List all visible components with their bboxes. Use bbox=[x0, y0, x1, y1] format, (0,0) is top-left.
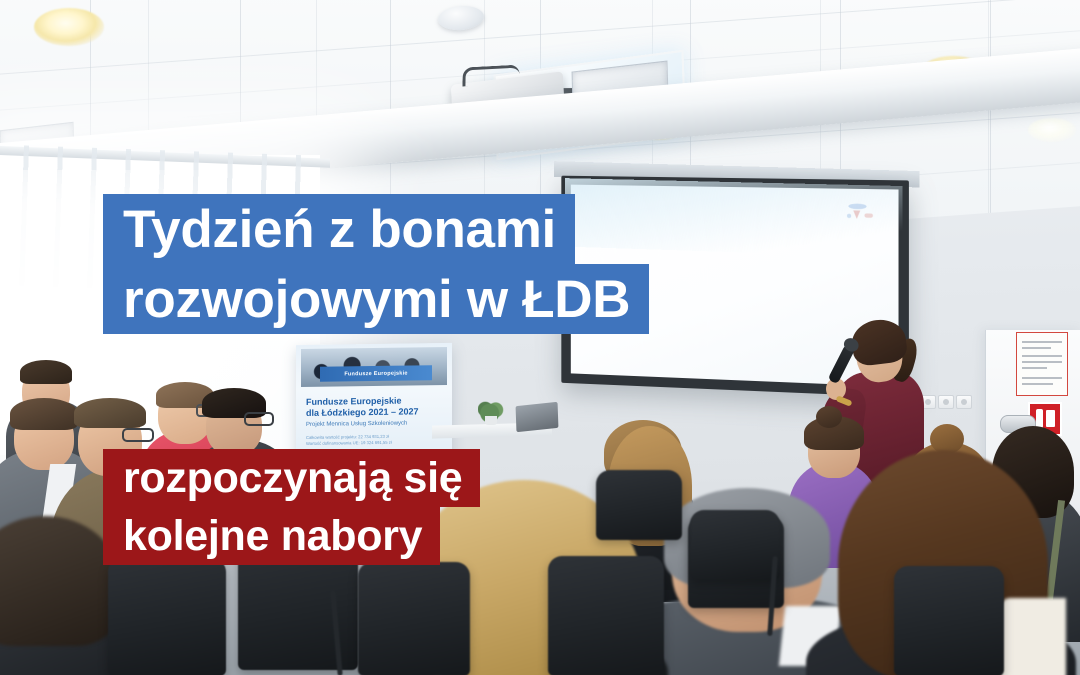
headline-line-1: Tydzień z bonami bbox=[103, 194, 575, 264]
power-socket-icon bbox=[956, 395, 972, 409]
headline-line-2: rozwojowymi w ŁDB bbox=[103, 264, 649, 334]
chair bbox=[548, 556, 664, 675]
subhead-line-1: rozpoczynają się bbox=[103, 449, 480, 507]
chair bbox=[690, 510, 780, 580]
desk-plant bbox=[478, 400, 504, 422]
rollup-tag-label: Fundusze Europejskie bbox=[344, 370, 407, 377]
laptop bbox=[516, 402, 559, 432]
chair bbox=[596, 470, 682, 540]
promo-image: Fundusze Europejskie Fundusze Europejski… bbox=[0, 0, 1080, 675]
rollup-title: Fundusze Europejskie dla Łódzkiego 2021 … bbox=[306, 395, 444, 419]
chair bbox=[108, 558, 226, 675]
rollup-subtitle: Projekt Mennica Usług Szkoleniowych bbox=[306, 419, 444, 429]
power-socket-icon bbox=[938, 395, 954, 409]
rollup-banner: Fundusze Europejskie Fundusze Europejski… bbox=[296, 343, 452, 463]
chair bbox=[894, 566, 1004, 675]
downlight-icon bbox=[34, 8, 104, 46]
rollup-contact: Całkowita wartość projektu: 22 734 931,2… bbox=[306, 433, 444, 447]
photo-background: Fundusze Europejskie Fundusze Europejski… bbox=[0, 0, 1080, 675]
subhead-line-2: kolejne nabory bbox=[103, 507, 440, 565]
rollup-tag: Fundusze Europejskie bbox=[320, 365, 432, 382]
chair bbox=[358, 562, 470, 675]
downlight-icon bbox=[1028, 118, 1076, 142]
safety-notice-sign bbox=[1016, 332, 1068, 396]
screen-logo-icon bbox=[839, 198, 882, 229]
